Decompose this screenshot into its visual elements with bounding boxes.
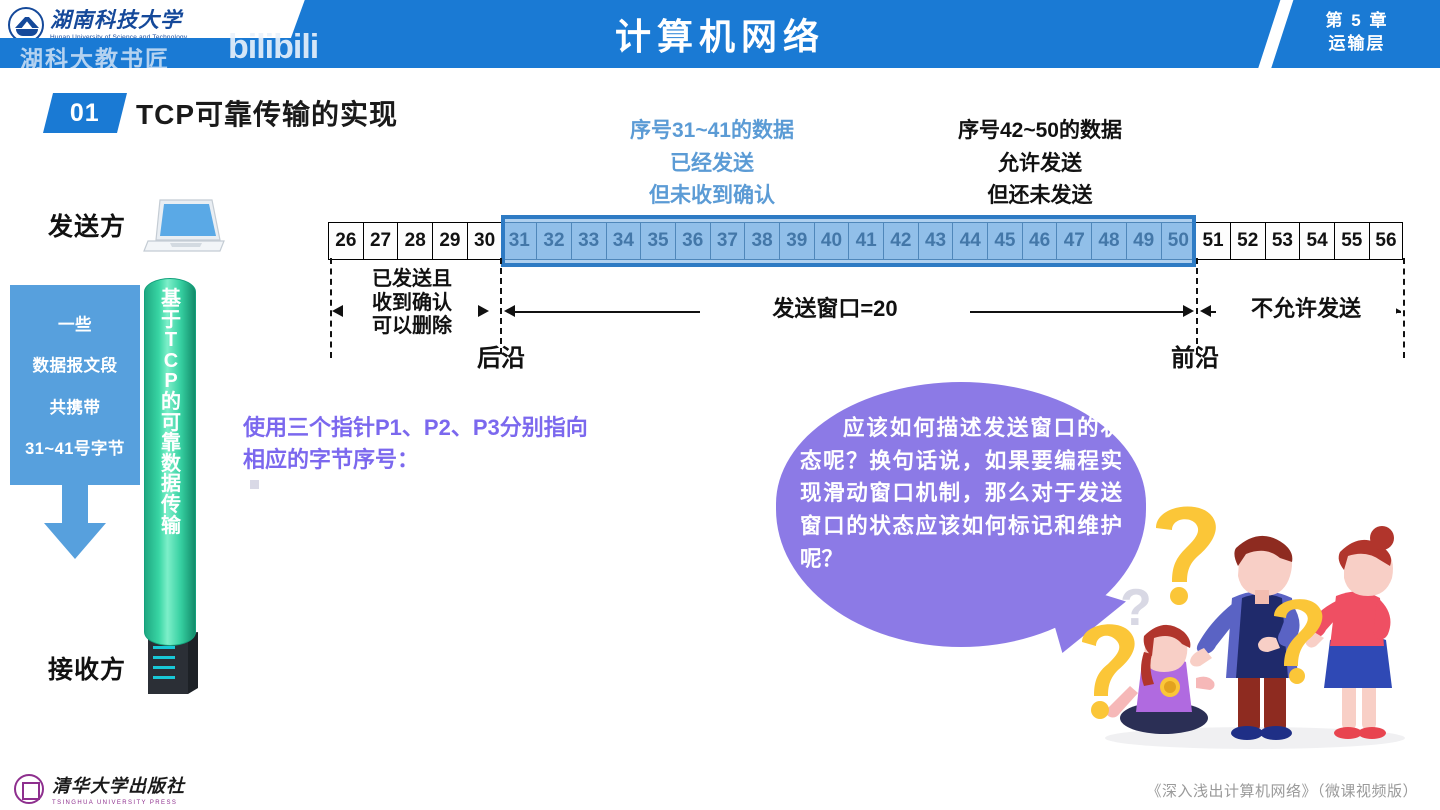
laptop-icon <box>140 196 226 258</box>
dash-line-front-edge <box>1196 258 1198 354</box>
byte-cell-30: 30 <box>467 222 502 260</box>
data-segments-line-2: 数据报文段 <box>33 352 118 376</box>
pointer-note-line-2: 相应的字节序号： <box>243 444 673 476</box>
tube-char-11: 输 <box>145 516 197 537</box>
byte-cell-38: 38 <box>744 222 779 260</box>
arrow-deleted-left <box>332 305 343 317</box>
arrow-notallowed-left <box>1200 305 1211 317</box>
book-title: 《深入浅出计算机网络》（微课视频版） <box>1146 780 1418 801</box>
data-segments-line-4: 31~41号字节 <box>25 435 125 459</box>
byte-cell-48: 48 <box>1091 222 1126 260</box>
data-segments-line-1: 一些 <box>58 311 92 335</box>
receiver-label: 接收方 <box>48 650 126 686</box>
byte-cell-29: 29 <box>432 222 467 260</box>
reliable-transmission-tube: 基 于 T C P 的 可 靠 数 据 传 输 <box>144 278 196 646</box>
dash-line-right-bound <box>1403 258 1405 358</box>
byte-cell-51: 51 <box>1195 222 1230 260</box>
publisher-name-cn: 清华大学出版社 <box>52 772 185 798</box>
page-header: 湖南科技大学 Hunan University of Science and T… <box>0 0 1440 68</box>
pointer-note-line-1: 使用三个指针P1、P2、P3分别指向 <box>243 412 673 444</box>
tube-char-1: 于 <box>145 310 197 331</box>
byte-cell-36: 36 <box>675 222 710 260</box>
data-segments-line-3: 共携带 <box>50 394 101 418</box>
byte-cell-42: 42 <box>883 222 918 260</box>
tube-char-4: P <box>145 371 197 392</box>
annotation-not-allowed: 不允许发送 <box>1216 296 1396 322</box>
callout-sent-unacked-line-2: 已经发送 <box>592 148 832 181</box>
byte-cell-55: 55 <box>1334 222 1369 260</box>
callout-allowed-line-3: 但还未发送 <box>920 180 1160 213</box>
tube-char-3: C <box>145 351 197 372</box>
section-number-badge: 01 <box>43 93 127 133</box>
section-number: 01 <box>70 99 100 128</box>
annotation-deleted-line-3: 可以删除 <box>352 315 472 339</box>
callout-sent-unacked: 序号31~41的数据 已经发送 但未收到确认 <box>592 115 832 213</box>
byte-cell-27: 27 <box>363 222 398 260</box>
byte-cell-50: 50 <box>1161 222 1196 260</box>
girl-standing <box>1306 526 1394 739</box>
byte-cell-52: 52 <box>1230 222 1265 260</box>
byte-cell-49: 49 <box>1126 222 1161 260</box>
byte-cell-54: 54 <box>1299 222 1334 260</box>
publisher-name-en: TSINGHUA UNIVERSITY PRESS <box>52 800 185 806</box>
arrow-window-right <box>1183 305 1194 317</box>
tube-char-2: T <box>145 330 197 351</box>
callout-sent-unacked-line-1: 序号31~41的数据 <box>592 115 832 148</box>
byte-cell-56: 56 <box>1369 222 1404 260</box>
annotation-deleted: 已发送且 收到确认 可以删除 <box>352 268 472 339</box>
byte-sequence-strip: 2627282930313233343536373839404142434445… <box>328 222 1403 260</box>
byte-cell-44: 44 <box>952 222 987 260</box>
byte-cell-45: 45 <box>987 222 1022 260</box>
byte-cell-41: 41 <box>848 222 883 260</box>
course-title: 计算机网络 <box>0 8 1440 60</box>
section-heading: 01 TCP可靠传输的实现 <box>48 93 398 133</box>
annotation-back-edge: 后沿 <box>466 345 536 373</box>
byte-cell-40: 40 <box>814 222 849 260</box>
tube-char-0: 基 <box>145 289 197 310</box>
tube-char-5: 的 <box>145 392 197 413</box>
tube-char-8: 数 <box>145 454 197 475</box>
byte-cell-34: 34 <box>606 222 641 260</box>
annotation-send-window: 发送窗口=20 <box>700 296 970 322</box>
callout-sent-unacked-line-3: 但未收到确认 <box>592 180 832 213</box>
tube-char-7: 靠 <box>145 433 197 454</box>
down-arrow-icon <box>42 483 108 561</box>
arrow-deleted-right <box>478 305 489 317</box>
tube-char-6: 可 <box>145 413 197 434</box>
tsinghua-seal-icon <box>14 774 44 804</box>
byte-cell-35: 35 <box>640 222 675 260</box>
chapter-name: 运输层 <box>1292 33 1422 56</box>
arrow-window-left <box>504 305 515 317</box>
chapter-number: 第 5 章 <box>1292 10 1422 33</box>
byte-cell-37: 37 <box>710 222 745 260</box>
chapter-label: 第 5 章 运输层 <box>1292 10 1422 56</box>
publisher-logo: 清华大学出版社 TSINGHUA UNIVERSITY PRESS <box>14 772 185 806</box>
boy-standing <box>1190 536 1300 740</box>
byte-cell-31: 31 <box>501 222 536 260</box>
callout-allowed-line-1: 序号42~50的数据 <box>920 115 1160 148</box>
tube-char-10: 传 <box>145 495 197 516</box>
question-mark-large-icon <box>1156 506 1216 605</box>
annotation-deleted-line-1: 已发送且 <box>352 268 472 292</box>
callout-allowed-not-sent: 序号42~50的数据 允许发送 但还未发送 <box>920 115 1160 213</box>
tube-label: 基 于 T C P 的 可 靠 数 据 传 输 <box>145 289 197 536</box>
pointer-note: 使用三个指针P1、P2、P3分别指向 相应的字节序号： <box>243 412 673 476</box>
byte-cell-46: 46 <box>1022 222 1057 260</box>
byte-cell-28: 28 <box>397 222 432 260</box>
confused-people-illustration <box>1060 490 1440 752</box>
note-artifact-dot <box>250 480 259 489</box>
byte-cell-32: 32 <box>536 222 571 260</box>
tube-char-9: 据 <box>145 474 197 495</box>
byte-cell-53: 53 <box>1265 222 1300 260</box>
byte-cell-26: 26 <box>328 222 363 260</box>
byte-cell-43: 43 <box>918 222 953 260</box>
sender-label: 发送方 <box>48 207 126 243</box>
callout-allowed-line-2: 允许发送 <box>920 148 1160 181</box>
dash-line-back-edge <box>500 258 502 354</box>
annotation-deleted-line-2: 收到确认 <box>352 292 472 316</box>
data-segments-box: 一些 数据报文段 共携带 31~41号字节 <box>10 285 140 485</box>
annotation-front-edge: 前沿 <box>1160 345 1230 373</box>
section-title: TCP可靠传输的实现 <box>136 93 398 133</box>
byte-cell-33: 33 <box>571 222 606 260</box>
byte-cell-39: 39 <box>779 222 814 260</box>
byte-cell-47: 47 <box>1056 222 1091 260</box>
